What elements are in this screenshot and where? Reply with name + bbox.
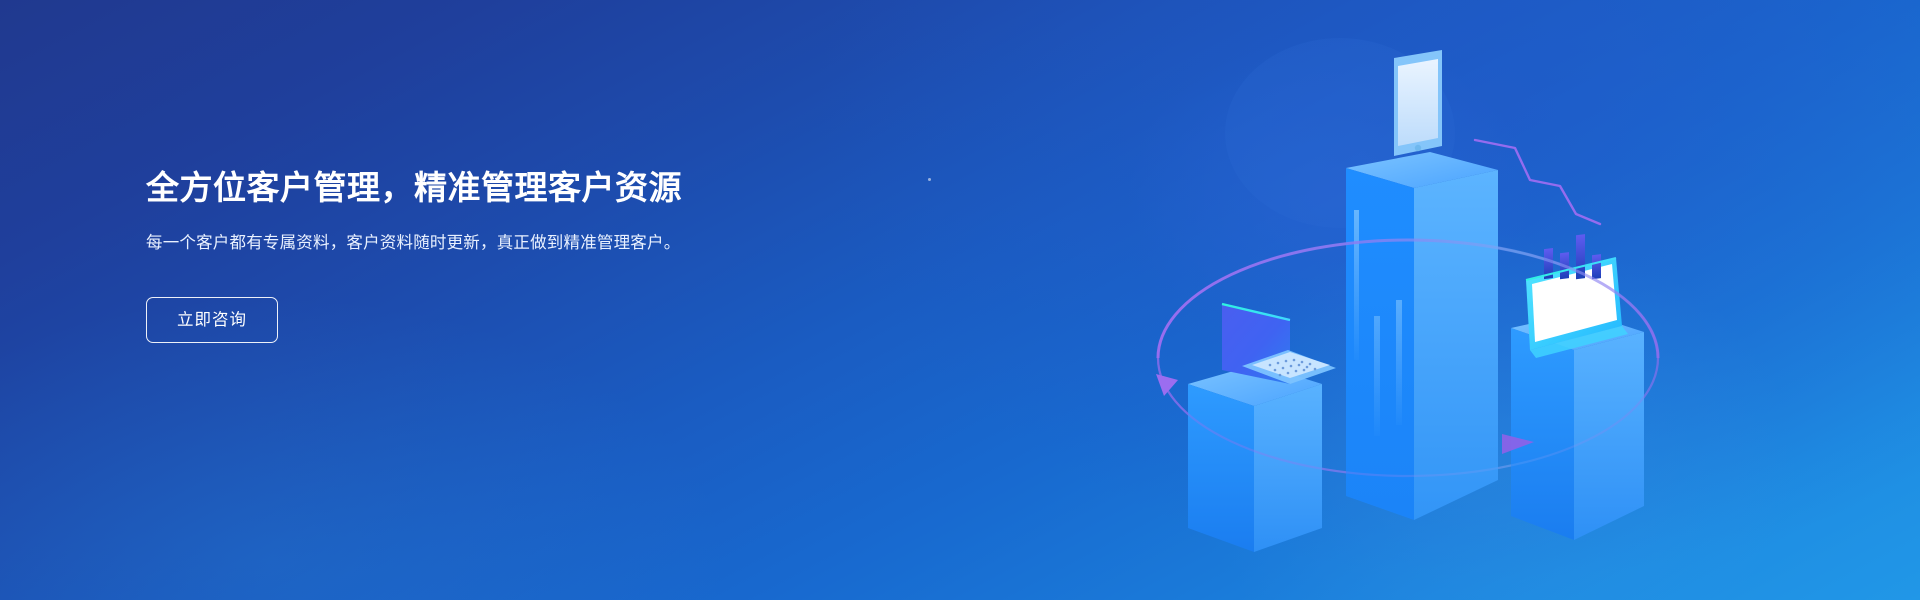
pillar-right-side (1574, 332, 1644, 540)
laptop-device-icon (1222, 304, 1336, 384)
hero-content: 全方位客户管理，精准管理客户资源 每一个客户都有专属资料，客户资料随时更新，真正… (146, 168, 786, 343)
hero-illustration (1130, 28, 1690, 568)
pillar-left-front (1188, 384, 1254, 552)
sparkle-dot (928, 178, 931, 181)
pillar-left (1188, 304, 1336, 552)
orbit-arrow-left-icon (1156, 374, 1178, 396)
consult-now-button[interactable]: 立即咨询 (146, 297, 278, 343)
tablet-device-icon (1394, 50, 1442, 156)
page-title: 全方位客户管理，精准管理客户资源 (146, 168, 786, 208)
background-glow-left (0, 300, 720, 600)
hero-banner: 全方位客户管理，精准管理客户资源 每一个客户都有专属资料，客户资料随时更新，真正… (0, 0, 1920, 600)
hero-subtitle: 每一个客户都有专属资料，客户资料随时更新，真正做到精准管理客户。 (146, 230, 734, 257)
pillar-right (1511, 234, 1644, 540)
pillar-right-front (1511, 328, 1574, 540)
pillar-center-side (1414, 170, 1498, 520)
